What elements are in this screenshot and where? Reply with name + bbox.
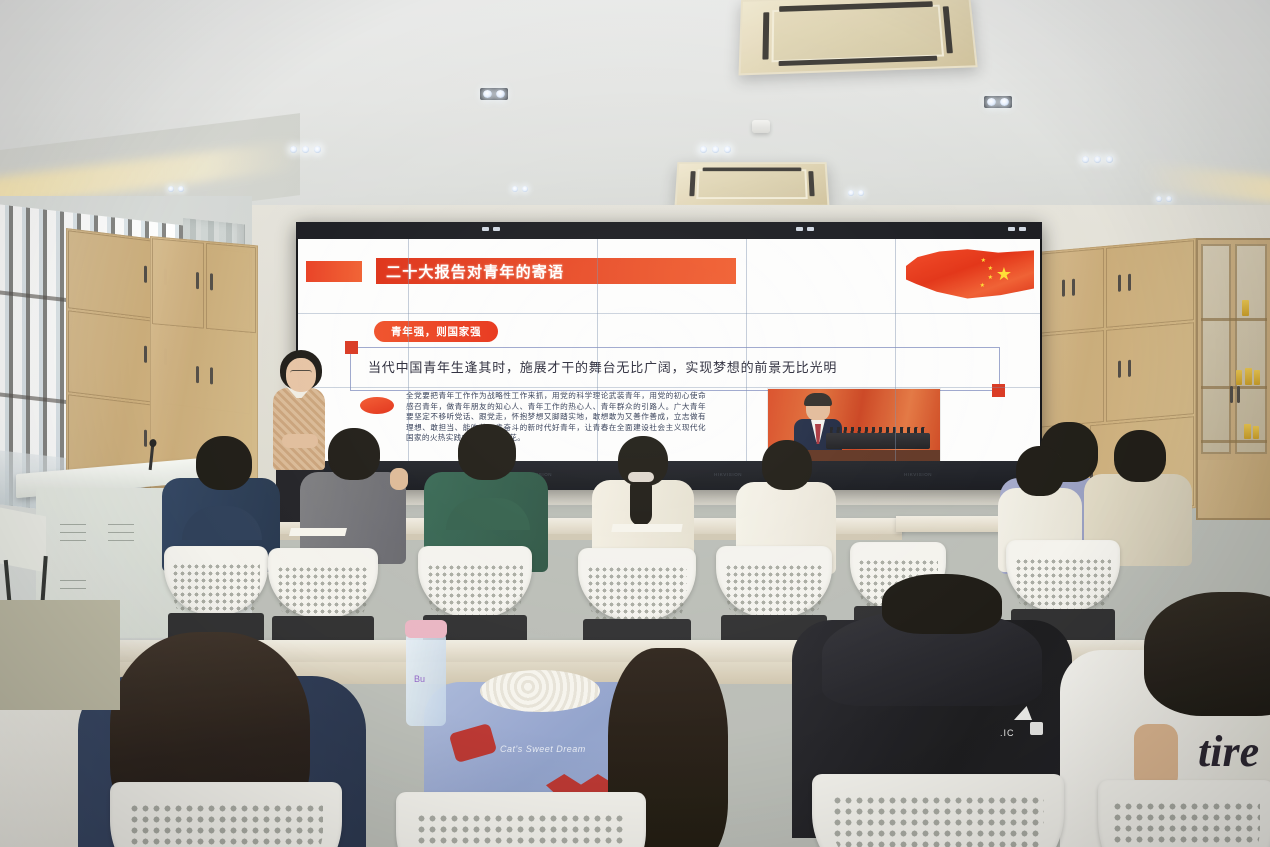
tshirt-print-text: tire [1198,726,1270,778]
display-cabinet [1196,238,1270,520]
slide-photo-podium [826,433,930,449]
slide-body-text: 全党要把青年工作作为战略性工作来抓，用党的科学理论武装青年，用党的初心使命感召青… [406,391,706,444]
dress-print-text: Cat's Sweet Dream [500,744,620,756]
slide-title: 二十大报告对青年的寄语 [386,261,726,282]
video-wall-top-bezel [296,222,1042,239]
trophy [1244,424,1251,439]
paper-handout [611,524,682,532]
ir-sensor [796,227,814,231]
slide-bullet-marker [360,397,394,414]
paper-handout [289,528,347,536]
chair [812,774,1064,847]
ceiling-downlight [168,186,184,192]
lace-collar [480,670,600,712]
trophy [1242,300,1249,316]
head [882,574,1002,634]
trophy [1236,370,1242,385]
ceiling-downlight [1156,196,1172,202]
chair [1098,780,1270,847]
display-brand-label: HIKVISION [714,472,742,477]
ceiling-downlight [1082,156,1113,163]
chair [396,792,646,847]
video-wall-screen: 二十大报告对青年的寄语 青年强，则国家强 当代中国青年生逢其时，施展才干的舞台无… [298,239,1040,461]
ceiling-downlight [480,88,508,100]
ceiling-downlight [290,146,321,153]
ceiling-downlight [984,96,1012,108]
title-accent-block [306,261,362,282]
ceiling-downlight [848,190,864,196]
ceiling-downlight [700,146,731,153]
trophy [1253,426,1259,439]
smoke-detector [752,120,770,133]
classroom-photo: 二十大报告对青年的寄语 青年强，则国家强 当代中国青年生逢其时，施展才干的舞台无… [0,0,1270,847]
display-brand-label: HIKVISION [904,472,932,477]
ir-sensor [1008,227,1026,231]
floor [0,600,120,710]
chair [110,782,342,847]
ceiling-ac-unit [739,0,978,75]
presentation-slide: 二十大报告对青年的寄语 青年强，则国家强 当代中国青年生逢其时，施展才干的舞台无… [298,239,1040,461]
head [1144,592,1270,716]
ir-sensor [482,227,500,231]
slide-subtitle-pill: 青年强，则国家强 [374,321,498,342]
chinese-flag-icon: ★ ★ ★ ★ ★ [906,247,1034,303]
trophy [1254,370,1260,385]
ceiling-ac-unit [674,162,829,207]
tumbler-pink-lid: Bu [406,634,446,726]
trophy [1245,368,1252,385]
video-wall: 二十大报告对青年的寄语 青年强，则国家强 当代中国青年生逢其时，施展才干的舞台无… [296,222,1042,490]
ceiling-downlight [512,186,528,192]
